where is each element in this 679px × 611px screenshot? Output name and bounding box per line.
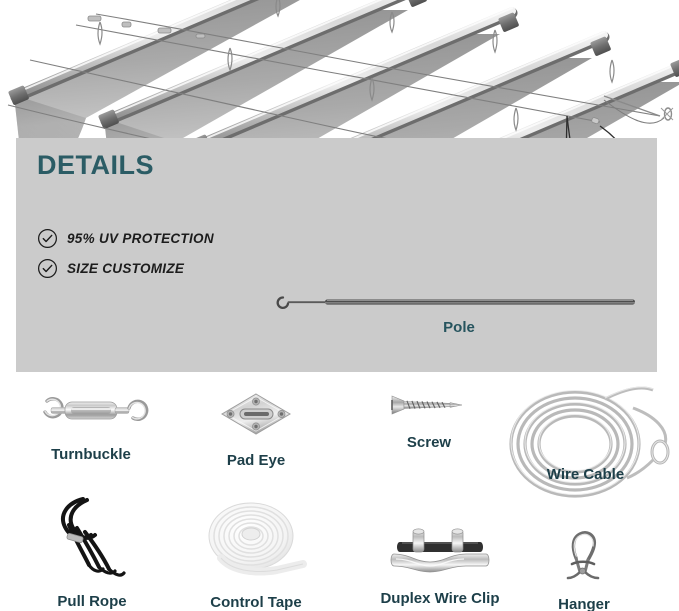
accessory-label: Wire Cable: [492, 467, 679, 482]
accessory-wire-cable: Wire Cable: [492, 382, 679, 522]
wire-cable-icon: [492, 382, 679, 507]
accessory-label: Screw: [344, 435, 514, 450]
feature-label: 95% UV PROTECTION: [67, 231, 214, 246]
accessory-turnbuckle: Turnbuckle: [0, 388, 182, 462]
pole-icon: [269, 288, 649, 318]
details-panel: DETAILS 95% UV PROTECTION SIZE CUSTOMIZE: [16, 138, 657, 372]
accessory-label: Pull Rope: [6, 594, 178, 609]
hanger-icon: [506, 528, 662, 589]
pole-figure: Pole: [269, 288, 649, 348]
accessory-control-tape: Control Tape: [170, 500, 342, 610]
accessory-label: Hanger: [506, 597, 662, 611]
control-tape-icon: [170, 500, 342, 589]
accessory-hanger: Hanger: [506, 528, 662, 611]
pull-rope-icon: [6, 495, 178, 588]
feature-label: SIZE CUSTOMIZE: [67, 261, 184, 276]
pole-label: Pole: [269, 319, 649, 336]
check-circle-icon: [37, 228, 58, 249]
feature-row: 95% UV PROTECTION: [37, 228, 214, 249]
turnbuckle-icon: [0, 388, 182, 439]
details-title: DETAILS: [37, 150, 154, 181]
feature-row: SIZE CUSTOMIZE: [37, 258, 184, 279]
accessory-screw: Screw: [344, 388, 514, 450]
screw-icon: [344, 388, 514, 427]
accessory-label: Control Tape: [170, 595, 342, 610]
accessory-label: Pad Eye: [168, 453, 344, 468]
product-infographic: DETAILS 95% UV PROTECTION SIZE CUSTOMIZE: [0, 0, 679, 611]
accessory-pad-eye: Pad Eye: [168, 388, 344, 468]
accessory-pull-rope: Pull Rope: [6, 495, 178, 609]
check-circle-icon: [37, 258, 58, 279]
accessory-label: Turnbuckle: [0, 447, 182, 462]
pad-eye-icon: [168, 388, 344, 445]
